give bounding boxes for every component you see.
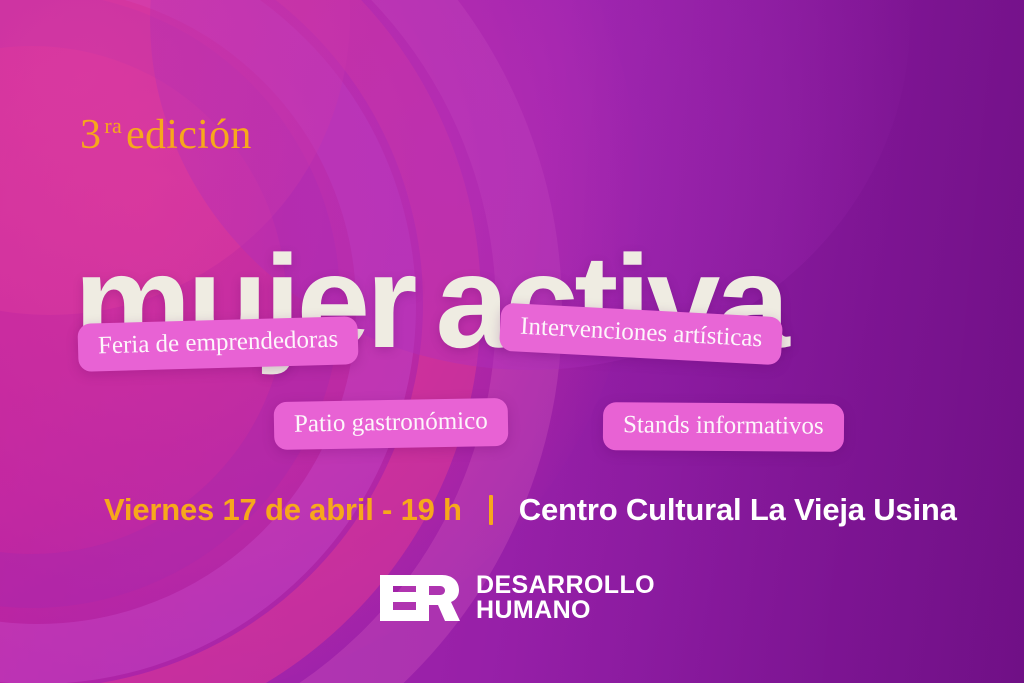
pill-stands-informativos: Stands informativos [603,402,844,452]
poster-canvas: 3raedición mujeractiva Feria de emprende… [0,0,1024,683]
er-logo-icon [380,575,460,621]
logo-line-humano: HUMANO [476,598,655,623]
event-info-line: Viernes 17 de abril - 19 h Centro Cultur… [104,492,957,528]
info-separator-bar [489,495,493,525]
edition-label: 3raedición [80,114,252,156]
edition-number: 3 [80,112,101,158]
pill-patio-gastronomico: Patio gastronómico [274,398,509,450]
event-date: Viernes 17 de abril - 19 h [104,492,462,528]
logo-wordmark: DESARROLLO HUMANO [476,573,655,623]
logo-line-desarrollo: DESARROLLO [476,573,655,598]
event-venue: Centro Cultural La Vieja Usina [519,492,957,528]
edition-ordinal: ra [104,113,122,138]
edition-word: edición [126,112,252,158]
logo-block: DESARROLLO HUMANO [380,573,655,623]
poster-content: 3raedición mujeractiva Feria de emprende… [0,0,1024,683]
pill-feria-de-emprendedoras: Feria de emprendedoras [77,316,358,372]
